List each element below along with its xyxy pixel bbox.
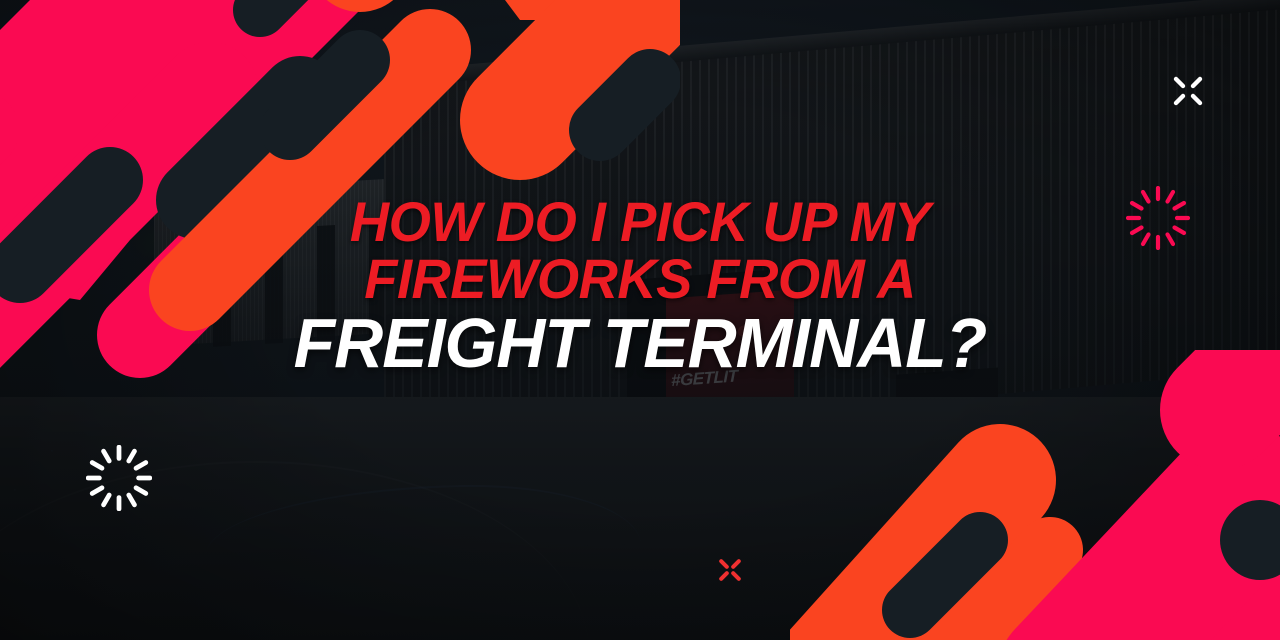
headline-line-2: FIREWORKS FROM A [19, 253, 1261, 306]
sparkle-white-x-top-right-icon [1168, 71, 1208, 111]
headline-line-1: HOW DO I PICK UP MY [19, 196, 1261, 249]
sparkle-red-x-bottom-icon [714, 554, 746, 586]
headline-line-3: FREIGHT TERMINAL? [19, 311, 1261, 377]
promo-banner: #GETLIT [0, 0, 1280, 640]
headline-block: HOW DO I PICK UP MY FIREWORKS FROM A FRE… [0, 196, 1280, 377]
sparkle-white-burst-left-icon [86, 445, 152, 511]
